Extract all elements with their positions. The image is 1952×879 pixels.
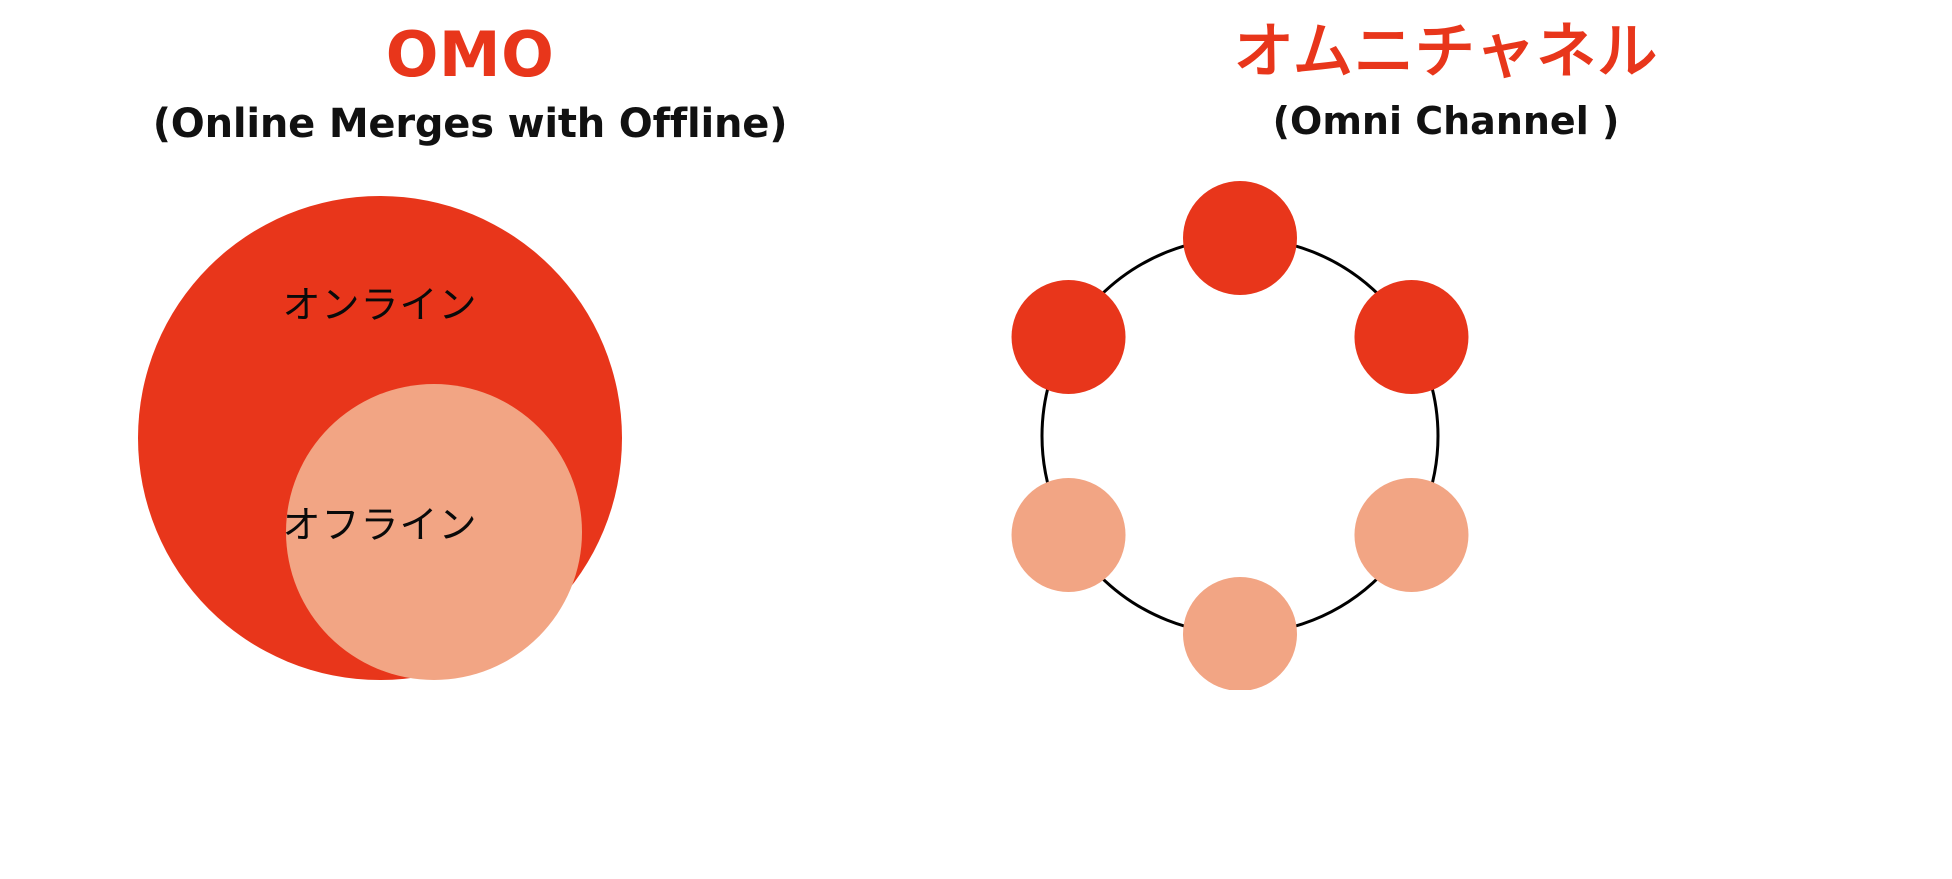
omo-title-block: OMO (Online Merges with Offline) <box>0 24 940 144</box>
node-upper-left <box>1012 280 1126 394</box>
omni-subtitle: (Omni Channel ) <box>940 102 1952 140</box>
omo-nested-circles-figure: オンライン オフライン <box>138 196 622 680</box>
omni-channel-ring-figure <box>980 178 1500 690</box>
omni-main-title: オムニチャネル <box>940 22 1952 82</box>
omo-subtitle: (Online Merges with Offline) <box>0 104 940 144</box>
omni-title-block: オムニチャネル (Omni Channel ) <box>940 22 1952 140</box>
ring-node-group <box>1012 181 1469 690</box>
node-lower-left <box>1012 478 1126 592</box>
panel-omni-channel: オムニチャネル (Omni Channel ) <box>940 0 1952 879</box>
node-top <box>1183 181 1297 295</box>
omo-main-title: OMO <box>0 24 940 86</box>
online-circle-label: オンライン <box>138 274 622 329</box>
node-upper-right <box>1354 280 1468 394</box>
node-bottom <box>1183 577 1297 690</box>
node-lower-right <box>1354 478 1468 592</box>
omni-ring-svg <box>980 178 1500 690</box>
panel-omo: OMO (Online Merges with Offline) オンライン オ… <box>0 0 940 879</box>
diagram-canvas: OMO (Online Merges with Offline) オンライン オ… <box>0 0 1952 879</box>
offline-circle-label: オフライン <box>138 494 622 549</box>
